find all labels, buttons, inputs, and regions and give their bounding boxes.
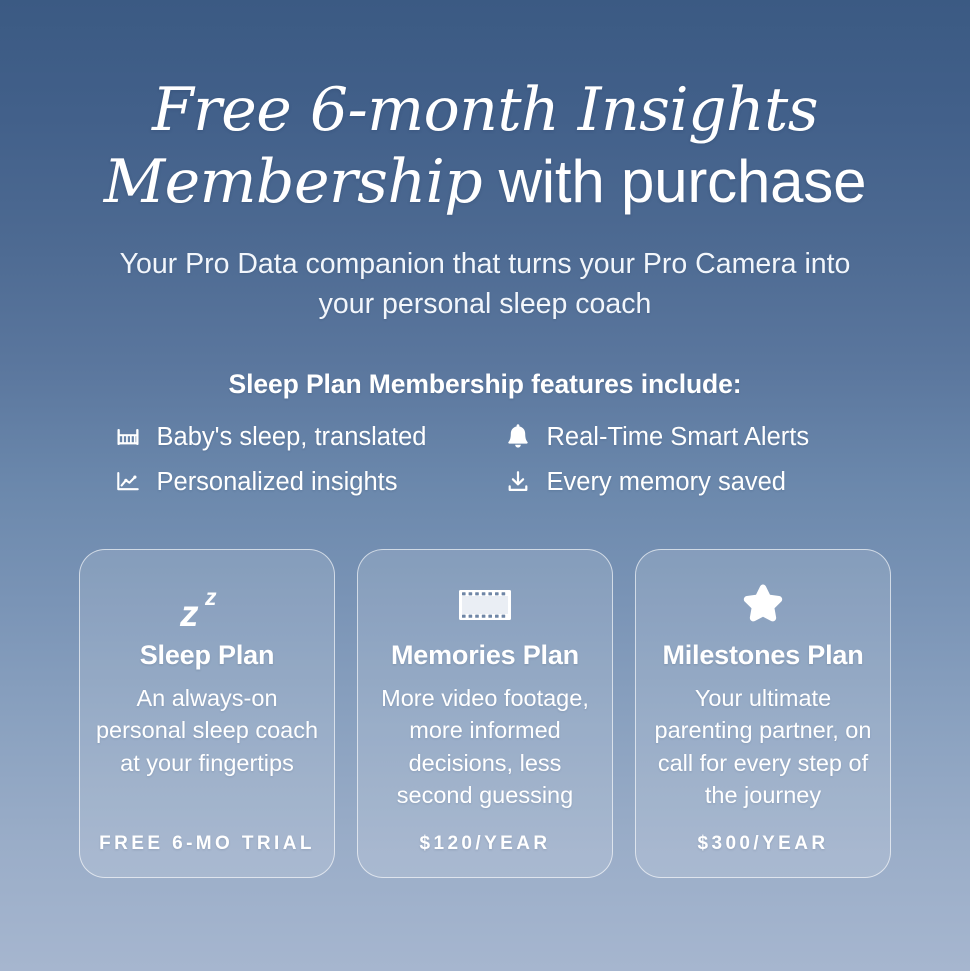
crib-icon <box>113 422 143 452</box>
plan-price: $300/YEAR <box>636 833 890 855</box>
download-icon <box>503 467 533 497</box>
plan-title: Memories Plan <box>391 640 579 671</box>
plan-cards: z z Sleep Plan An always-on personal sle… <box>79 549 891 878</box>
plan-description: An always-on personal sleep coach at you… <box>94 682 320 779</box>
features-title: Sleep Plan Membership features include: <box>229 369 742 400</box>
features-grid: Baby's sleep, translated Real-Time Smart… <box>113 422 858 497</box>
plan-title: Sleep Plan <box>140 640 275 671</box>
feature-label: Personalized insights <box>157 467 398 498</box>
promo-banner: Free 6-month Insights Membership with pu… <box>0 0 970 971</box>
plan-card-sleep[interactable]: z z Sleep Plan An always-on personal sle… <box>79 549 335 878</box>
sleep-zz-icon: z z <box>176 574 238 636</box>
feature-item-smart-alerts: Real-Time Smart Alerts <box>503 422 858 453</box>
plan-price: $120/YEAR <box>358 833 612 855</box>
feature-label: Baby's sleep, translated <box>157 422 427 453</box>
features-section: Sleep Plan Membership features include: <box>90 369 880 497</box>
headline-regular-part: with purchase <box>482 148 866 215</box>
plan-title: Milestones Plan <box>662 640 863 671</box>
film-strip-icon <box>457 574 513 636</box>
feature-item-baby-sleep: Baby's sleep, translated <box>113 422 503 453</box>
feature-item-personalized-insights: Personalized insights <box>113 467 503 498</box>
feature-label: Every memory saved <box>547 467 787 498</box>
plan-card-memories[interactable]: Memories Plan More video footage, more i… <box>357 549 613 878</box>
star-icon <box>737 574 789 636</box>
svg-text:z: z <box>179 593 199 630</box>
bell-icon <box>503 422 533 452</box>
svg-text:z: z <box>204 584 217 610</box>
feature-item-memory-saved: Every memory saved <box>503 467 858 498</box>
line-chart-icon <box>113 467 143 497</box>
plan-description: More video footage, more informed decisi… <box>372 682 598 811</box>
subheadline: Your Pro Data companion that turns your … <box>90 244 880 325</box>
plan-price: FREE 6-MO TRIAL <box>80 833 334 855</box>
page-title: Free 6-month Insights Membership with pu… <box>45 0 925 218</box>
plan-card-milestones[interactable]: Milestones Plan Your ultimate parenting … <box>635 549 891 878</box>
plan-description: Your ultimate parenting partner, on call… <box>650 682 876 811</box>
feature-label: Real-Time Smart Alerts <box>547 422 810 453</box>
